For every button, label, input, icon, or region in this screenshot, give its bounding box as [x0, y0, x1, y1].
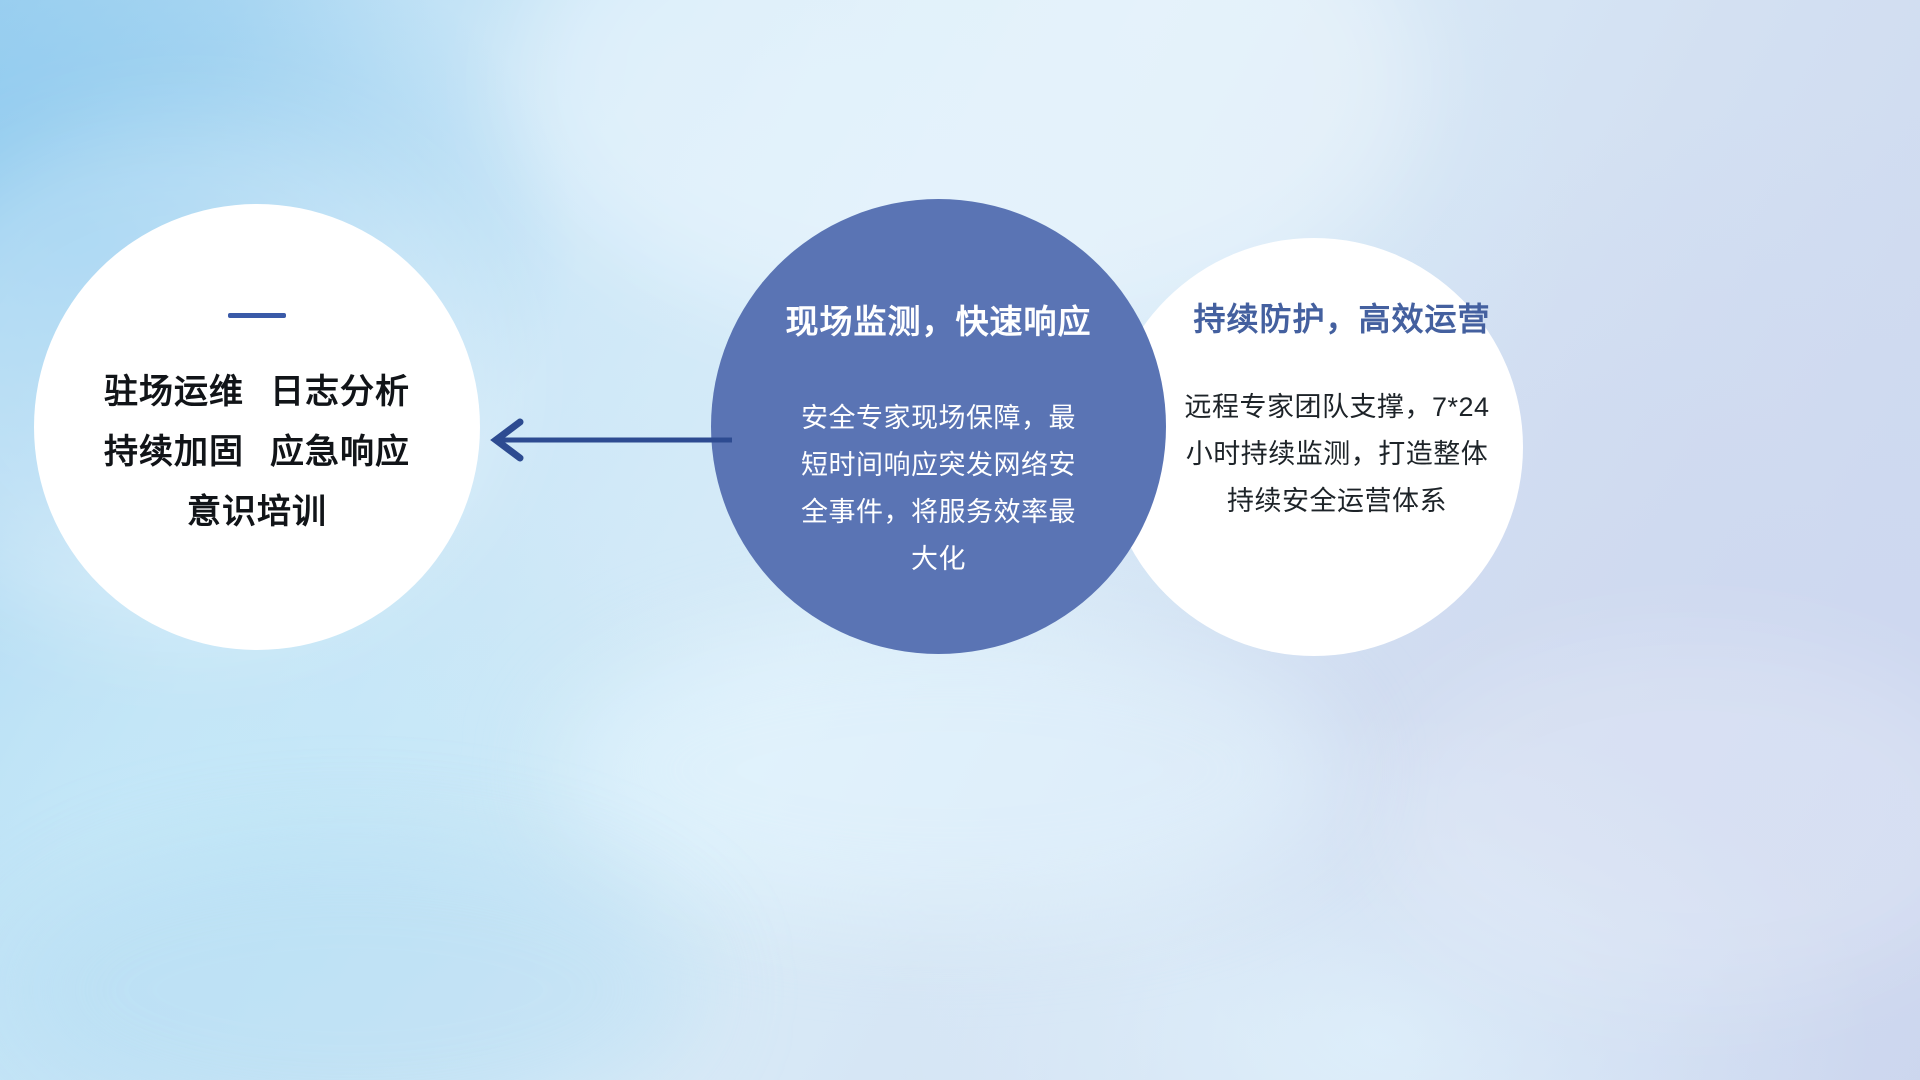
diagram-canvas: 驻场运维日志分析 持续加固应急响应 意识培训 现场监测，快速响应 安全专家现场保…	[0, 0, 1920, 1080]
background-light-streak	[560, 620, 1340, 920]
middle-circle-title: 现场监测，快速响应	[786, 295, 1092, 343]
keyword-item: 日志分析	[270, 373, 410, 411]
background-light-streak	[1380, 640, 1920, 1000]
keyword-line-3: 意识培训	[104, 482, 410, 542]
right-circle-title: 持续防护，高效运营	[1137, 294, 1490, 340]
divider-dash-icon	[228, 313, 286, 318]
keyword-item: 驻场运维	[104, 373, 244, 411]
right-circle-body: 远程专家团队支撑，7*24小时持续监测，打造整体持续安全运营体系	[1129, 384, 1499, 525]
left-keyword-circle: 驻场运维日志分析 持续加固应急响应 意识培训	[34, 204, 480, 650]
middle-service-circle: 现场监测，快速响应 安全专家现场保障，最短时间响应突发网络安全事件，将服务效率最…	[711, 199, 1166, 654]
middle-circle-body: 安全专家现场保障，最短时间响应突发网络安全事件，将服务效率最大化	[789, 395, 1089, 583]
keyword-item: 应急响应	[270, 433, 410, 471]
left-keyword-list: 驻场运维日志分析 持续加固应急响应 意识培训	[104, 362, 410, 542]
background-light-streak	[0, 840, 700, 1080]
right-service-circle: 持续防护，高效运营 远程专家团队支撑，7*24小时持续监测，打造整体持续安全运营…	[1105, 238, 1523, 656]
keyword-item: 意识培训	[187, 493, 327, 531]
keyword-line-2: 持续加固应急响应	[104, 422, 410, 482]
keyword-item: 持续加固	[104, 433, 244, 471]
left-pointing-arrow-icon	[470, 410, 740, 490]
keyword-line-1: 驻场运维日志分析	[104, 362, 410, 422]
